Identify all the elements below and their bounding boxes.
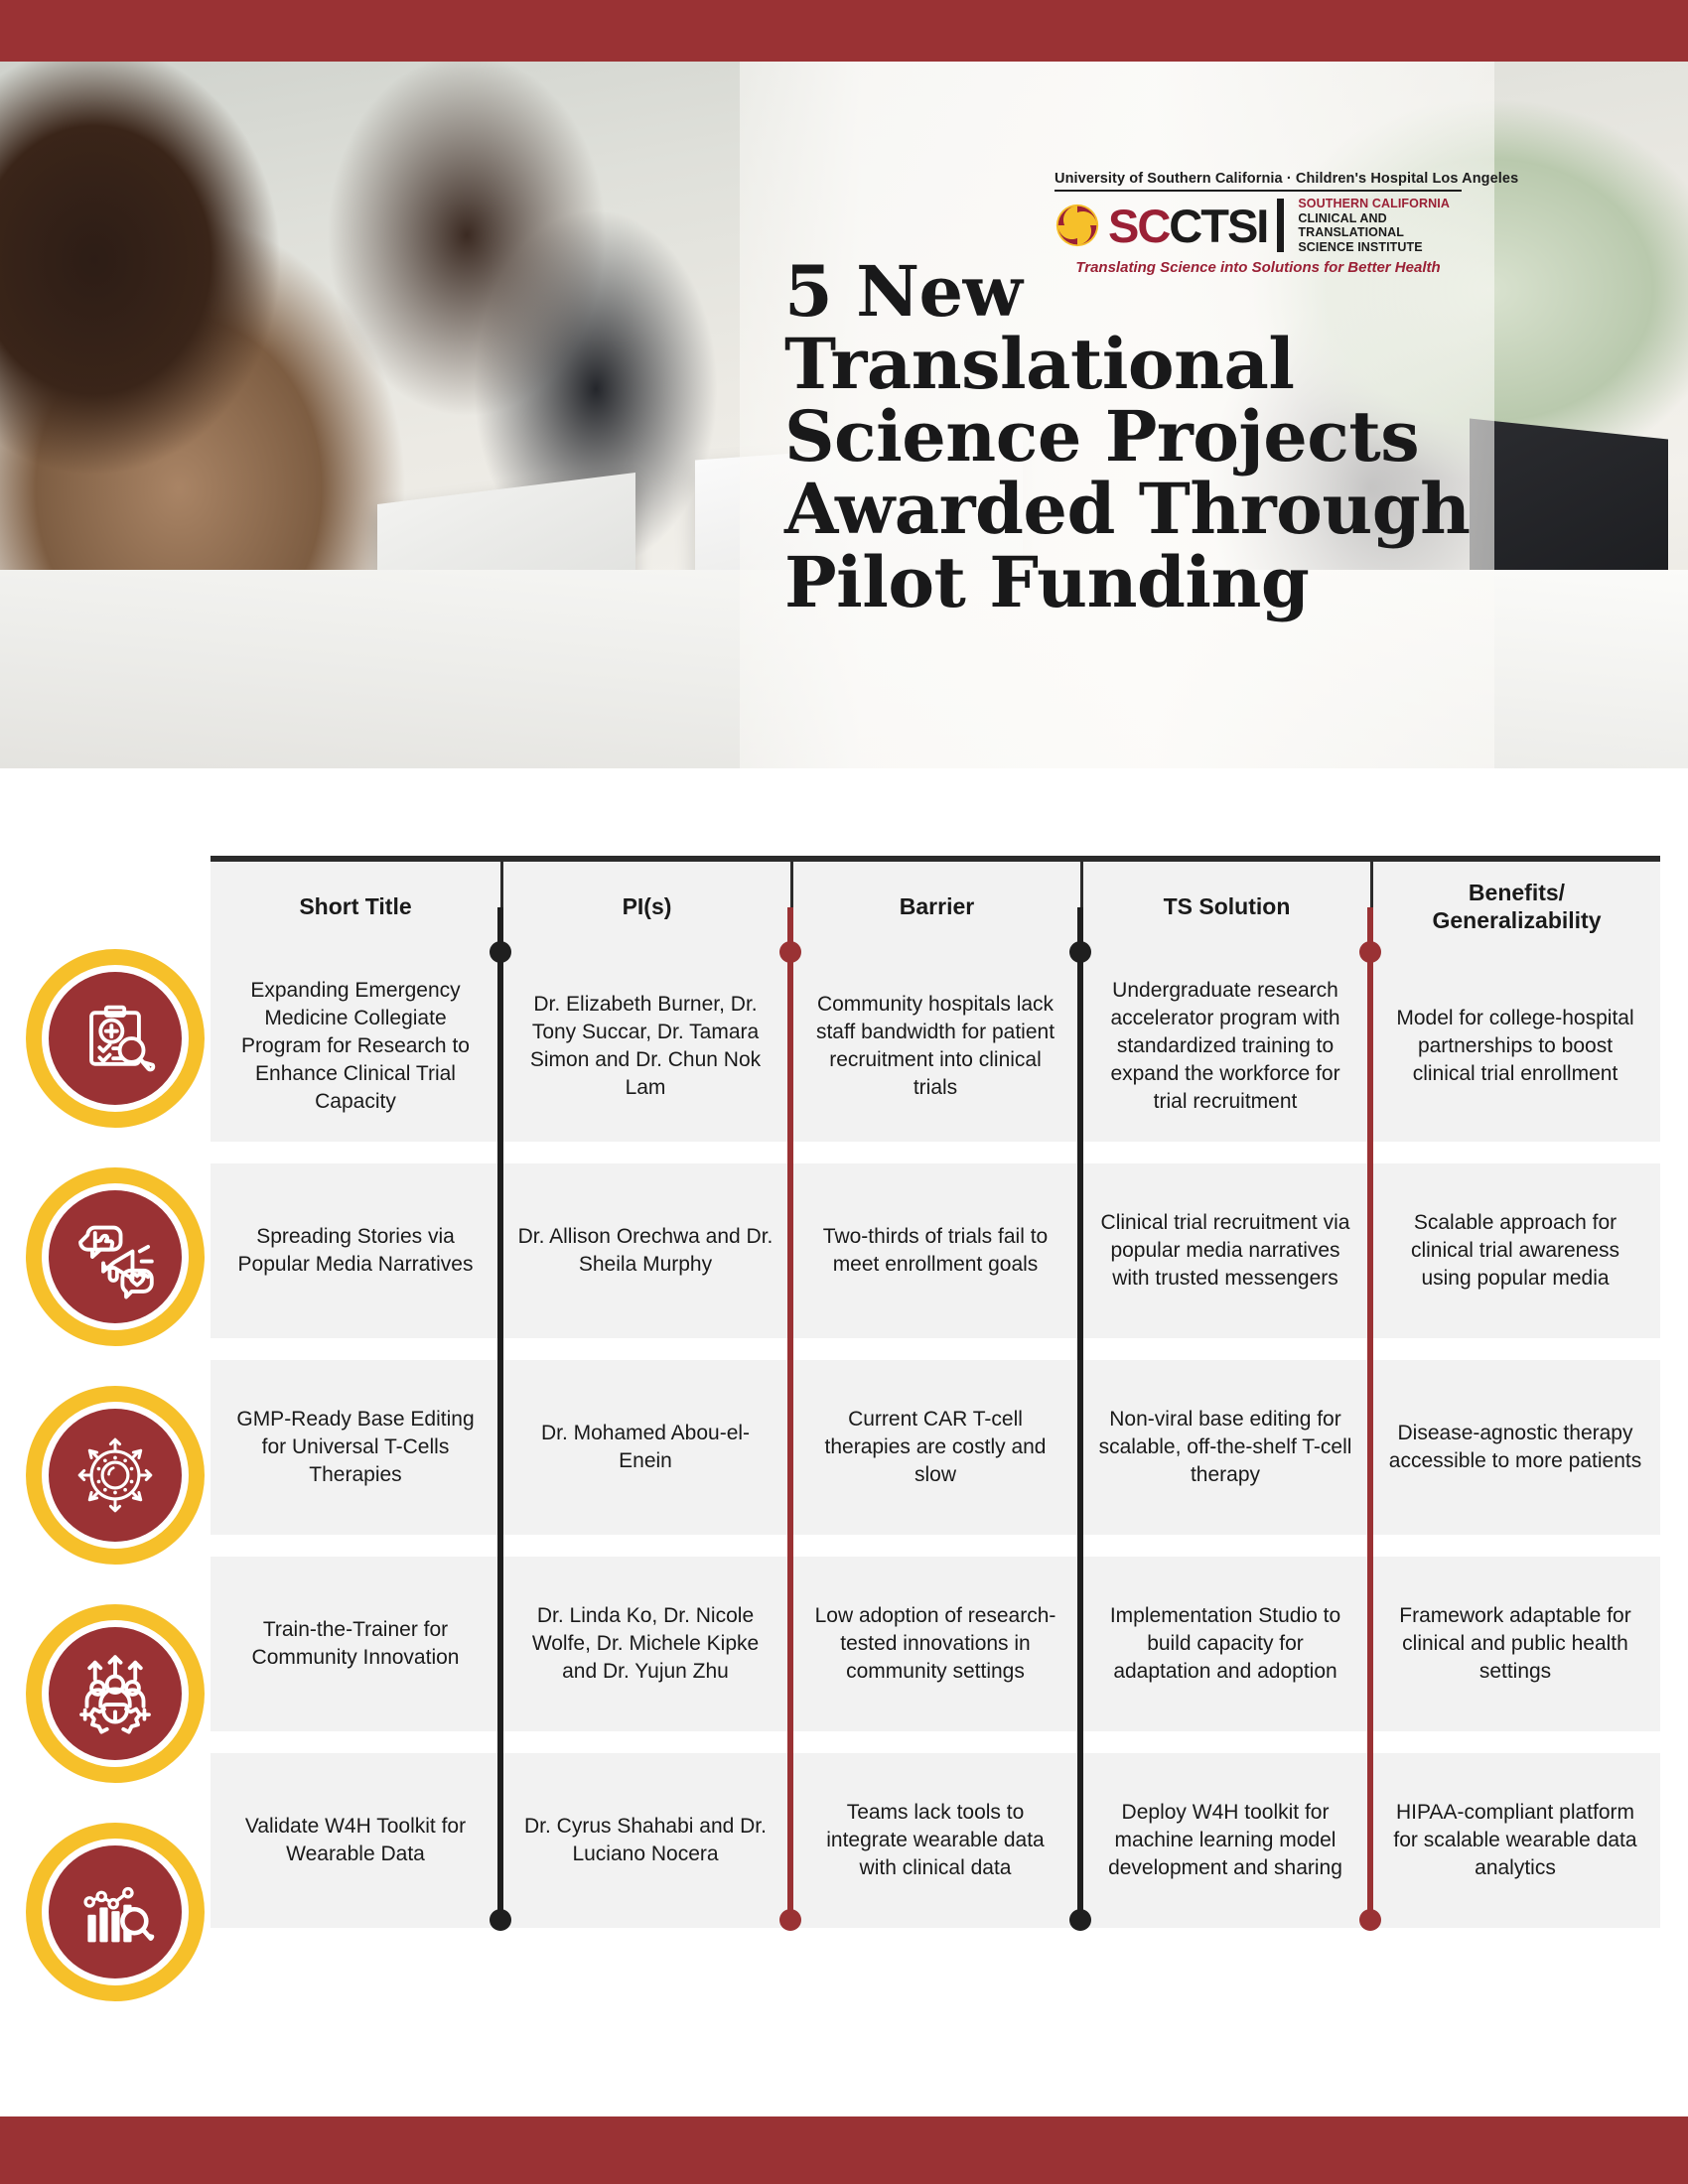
row-icon-badge-5 (26, 1823, 205, 2001)
cell-short-title: Train-the-Trainer for Community Innovati… (211, 1557, 500, 1731)
cell-benefits: Model for college-hospital partnerships … (1370, 951, 1660, 1142)
logo-wordmark-sc: SC (1108, 200, 1169, 252)
cell-pis: Dr. Allison Orechwa and Dr. Sheila Murph… (500, 1163, 790, 1338)
logo-subtitle: SOUTHERN CALIFORNIA CLINICAL AND TRANSLA… (1298, 197, 1450, 254)
cell-benefits: HIPAA-compliant platform for scalable we… (1370, 1753, 1660, 1928)
table-row: Expanding Emergency Medicine Collegiate … (211, 951, 1660, 1142)
logo-subtitle-line-1: SOUTHERN CALIFORNIA (1298, 197, 1450, 211)
cell-barrier: Community hospitals lack staff bandwidth… (790, 951, 1080, 1142)
cell-ts-solution: Undergraduate research accelerator progr… (1080, 951, 1370, 1142)
column-header-short-title: Short Title (211, 862, 500, 951)
logo-subtitle-line-4: SCIENCE INSTITUTE (1298, 240, 1450, 255)
row-icon-column (26, 949, 205, 2041)
row-icon-badge-3 (26, 1386, 205, 1565)
scctsi-swirl-icon (1055, 203, 1100, 248)
logo-subtitle-line-2: CLINICAL AND (1298, 211, 1450, 226)
cell-ts-solution: Deploy W4H toolkit for machine learning … (1080, 1753, 1370, 1928)
row-icon-badge-2 (26, 1167, 205, 1346)
infographic-page: University of Southern California · Chil… (0, 0, 1688, 2184)
table-row: Validate W4H Toolkit for Wearable Data D… (211, 1753, 1660, 1928)
cell-barrier: Low adoption of research-tested innovati… (790, 1557, 1080, 1731)
column-header-barrier: Barrier (790, 862, 1080, 951)
cell-pis: Dr. Elizabeth Burner, Dr. Tony Succar, D… (500, 951, 790, 1142)
logo-vertical-bar (1277, 199, 1284, 252)
cell-pis: Dr. Cyrus Shahabi and Dr. Luciano Nocera (500, 1753, 790, 1928)
cell-barrier: Teams lack tools to integrate wearable d… (790, 1753, 1080, 1928)
projects-table: Short Title PI(s) Barrier TS Solution Be… (211, 856, 1660, 1950)
table-row: Train-the-Trainer for Community Innovati… (211, 1557, 1660, 1731)
bottom-brand-bar (0, 2116, 1688, 2184)
table-row: Spreading Stories via Popular Media Narr… (211, 1163, 1660, 1338)
row-icon-badge-4 (26, 1604, 205, 1783)
logo-partners-line: University of Southern California · Chil… (1055, 171, 1462, 187)
column-header-benefits-line1: Benefits/ (1432, 879, 1601, 906)
cell-barrier: Two-thirds of trials fail to meet enroll… (790, 1163, 1080, 1338)
cell-ts-solution: Implementation Studio to build capacity … (1080, 1557, 1370, 1731)
table-body: Expanding Emergency Medicine Collegiate … (211, 951, 1660, 1928)
column-header-benefits-line2: Generalizability (1432, 906, 1601, 934)
logo-subtitle-line-3: TRANSLATIONAL (1298, 225, 1450, 240)
table-header-row: Short Title PI(s) Barrier TS Solution Be… (211, 856, 1660, 951)
column-header-ts-solution: TS Solution (1080, 862, 1370, 951)
column-header-pis: PI(s) (500, 862, 790, 951)
hero-banner: University of Southern California · Chil… (0, 62, 1688, 768)
logo-wordmark: SCCTSI (1108, 203, 1267, 249)
cell-receptor-icon (42, 1402, 189, 1549)
clipboard-search-icon (42, 965, 189, 1112)
row-icon-badge-1 (26, 949, 205, 1128)
page-title: 5 New Translational Science Projects Awa… (784, 255, 1479, 618)
cell-benefits: Scalable approach for clinical trial awa… (1370, 1163, 1660, 1338)
cell-short-title: Spreading Stories via Popular Media Narr… (211, 1163, 500, 1338)
megaphone-social-icon (42, 1183, 189, 1330)
logo-wordmark-ctsi: CTSI (1169, 200, 1267, 252)
cell-ts-solution: Non-viral base editing for scalable, off… (1080, 1360, 1370, 1535)
cell-short-title: Validate W4H Toolkit for Wearable Data (211, 1753, 500, 1928)
cell-pis: Dr. Linda Ko, Dr. Nicole Wolfe, Dr. Mich… (500, 1557, 790, 1731)
cell-ts-solution: Clinical trial recruitment via popular m… (1080, 1163, 1370, 1338)
cell-benefits: Framework adaptable for clinical and pub… (1370, 1557, 1660, 1731)
people-gear-growth-icon (42, 1620, 189, 1767)
column-header-benefits: Benefits/ Generalizability (1370, 862, 1660, 951)
top-brand-bar (0, 0, 1688, 62)
cell-short-title: GMP-Ready Base Editing for Universal T-C… (211, 1360, 500, 1535)
logo-divider-rule (1055, 190, 1462, 192)
table-row: GMP-Ready Base Editing for Universal T-C… (211, 1360, 1660, 1535)
chart-analytics-search-icon (42, 1839, 189, 1985)
cell-benefits: Disease-agnostic therapy accessible to m… (1370, 1360, 1660, 1535)
cell-barrier: Current CAR T-cell therapies are costly … (790, 1360, 1080, 1535)
cell-pis: Dr. Mohamed Abou-el-Enein (500, 1360, 790, 1535)
cell-short-title: Expanding Emergency Medicine Collegiate … (211, 951, 500, 1142)
